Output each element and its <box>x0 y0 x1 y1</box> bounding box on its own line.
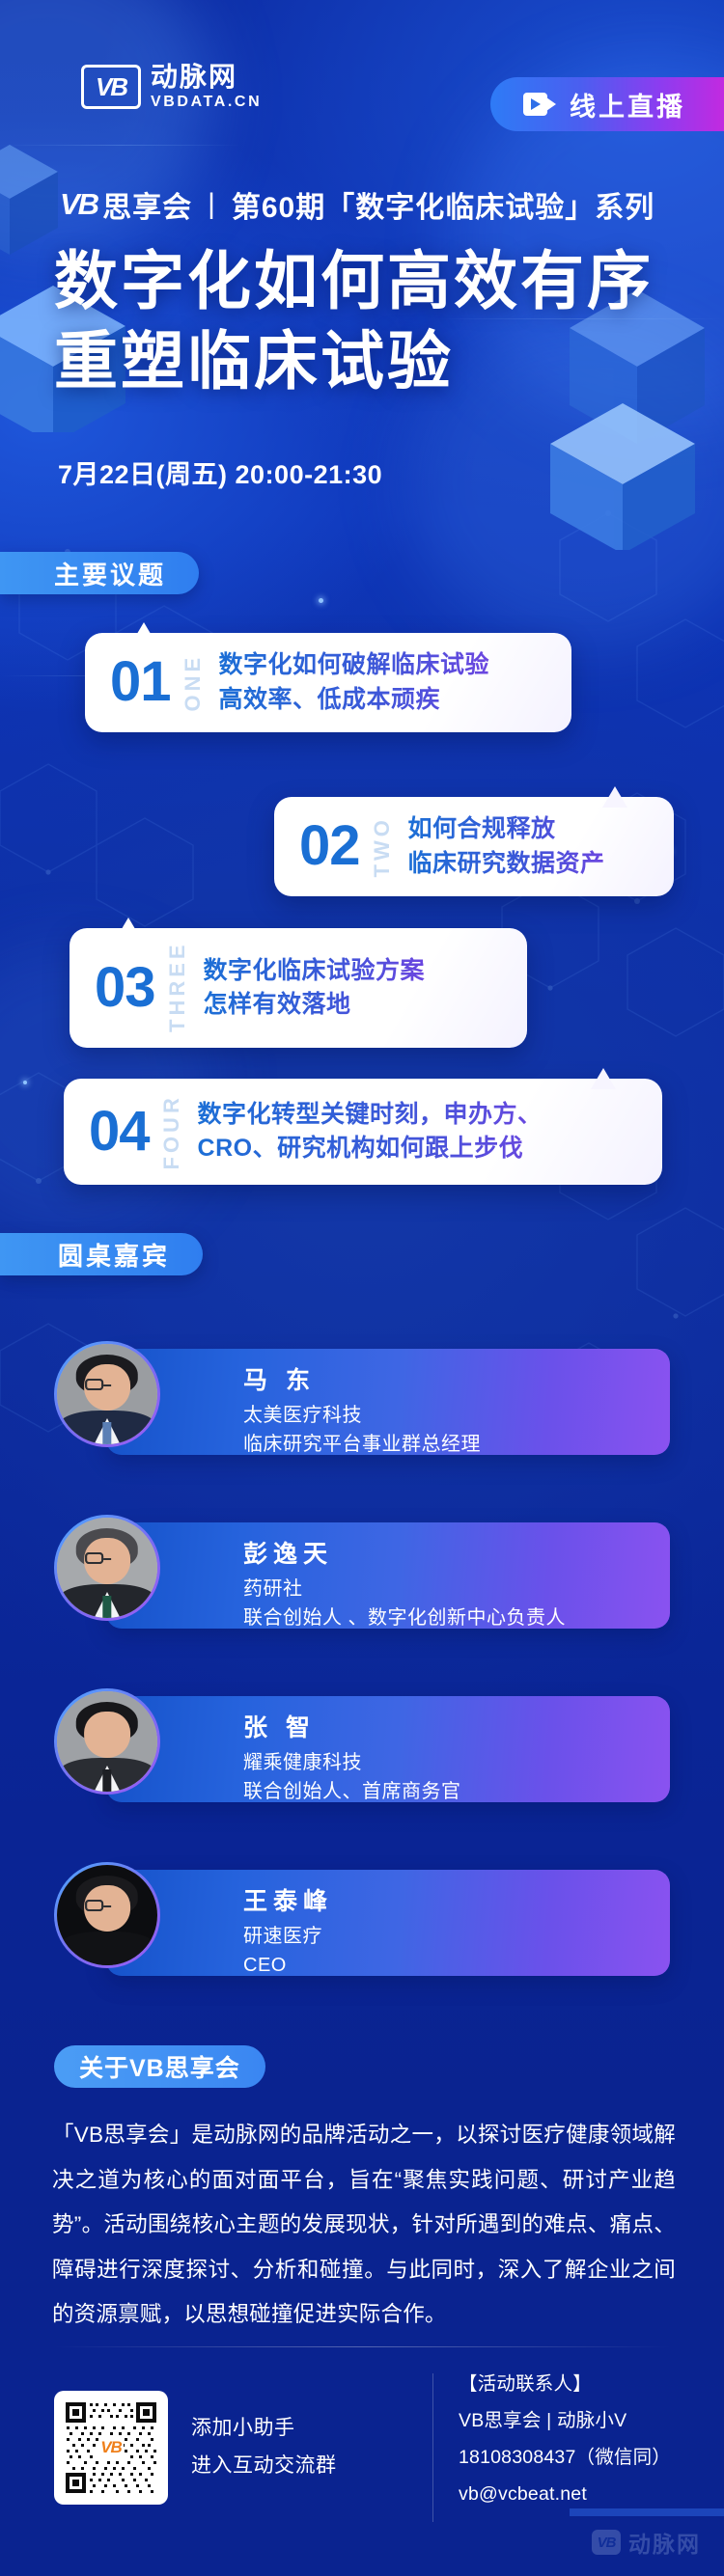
avatar-3 <box>57 1691 157 1792</box>
page-title: 数字化如何高效有序 重塑临床试验 <box>54 241 654 401</box>
guest-role-2: 联合创始人 、数字化创新中心负责人 <box>243 1603 566 1632</box>
avatar-ring-1 <box>54 1341 160 1447</box>
footer-divider <box>54 2346 672 2347</box>
guest-name-4: 王泰峰 <box>243 1882 333 1917</box>
topic-number-1: 01 <box>110 657 171 707</box>
video-camera-icon <box>523 93 556 116</box>
live-badge-label: 线上直播 <box>570 86 685 123</box>
guest-org-2: 药研社 <box>243 1575 566 1603</box>
contact-block: 【活动联系人】 VB思享会 | 动脉小V 18108308437（微信同） vb… <box>459 2366 671 2530</box>
qr-instructions: 添加小助手 进入互动交流群 <box>191 2410 337 2485</box>
topic-card-4: 04 FOUR 数字化转型关键时刻，申办方、 CRO、研究机构如何跟上步伐 <box>64 1079 662 1185</box>
guest-row-1: 马 东 太美医疗科技 临床研究平台事业群总经理 <box>54 1349 670 1455</box>
topic-number-4: 04 <box>89 1107 150 1157</box>
brand-name-cn: 动脉网 <box>151 64 262 91</box>
contact-email[interactable]: vb@vcbeat.net <box>459 2476 671 2512</box>
topic-text-3: 数字化临床试验方案 怎样有效落地 <box>204 954 426 1023</box>
kicker-issue: 第60期「数字化临床试验」系列 <box>232 183 654 226</box>
guest-name-2: 彭逸天 <box>243 1535 566 1570</box>
contact-title: 【活动联系人】 <box>459 2366 671 2402</box>
qr-code[interactable]: VB <box>54 2391 168 2505</box>
topic-text-2: 如何合规释放 临床研究数据资产 <box>408 812 605 881</box>
kicker-vb-mark: VB <box>60 187 97 222</box>
kicker-series: 思享会 <box>102 183 192 226</box>
topic-number-3: 03 <box>95 963 155 1013</box>
avatar-1 <box>57 1344 157 1444</box>
poster-root: VB 动脉网 VBDATA.CN 线上直播 VB 思享会 | 第60期「数字化临… <box>0 0 724 2576</box>
avatar-4 <box>57 1865 157 1965</box>
topic-card-3: 03 THREE 数字化临床试验方案 怎样有效落地 <box>70 928 527 1048</box>
guest-name-3: 张 智 <box>243 1709 461 1743</box>
guest-name-1: 马 东 <box>243 1361 481 1396</box>
avatar-ring-4 <box>54 1862 160 1968</box>
avatar-ring-2 <box>54 1515 160 1621</box>
guest-row-4: 王泰峰 研速医疗 CEO <box>54 1870 670 1976</box>
guest-row-2: 彭逸天 药研社 联合创始人 、数字化创新中心负责人 <box>54 1522 670 1629</box>
section-heading-topics: 主要议题 <box>0 552 199 594</box>
kicker-separator: | <box>208 188 216 221</box>
live-stream-badge[interactable]: 线上直播 <box>490 77 724 131</box>
watermark-label: 动脉网 <box>628 2526 701 2559</box>
topic-word-4: FOUR <box>161 1094 182 1169</box>
title-line-1: 数字化如何高效有序 <box>54 241 654 321</box>
footer-vertical-divider <box>432 2373 433 2522</box>
topic-text-1: 数字化如何破解临床试验 高效率、低成本顽疾 <box>219 648 490 717</box>
topic-word-1: ONE <box>182 654 204 712</box>
watermark: VB 动脉网 <box>592 2526 701 2559</box>
avatar-ring-3 <box>54 1688 160 1795</box>
topic-card-1: 01 ONE 数字化如何破解临床试验 高效率、低成本顽疾 <box>85 633 571 732</box>
topic-word-3: THREE <box>167 944 188 1032</box>
guest-role-3: 联合创始人、首席商务官 <box>243 1777 461 1806</box>
topic-text-4: 数字化转型关键时刻，申办方、 CRO、研究机构如何跟上步伐 <box>198 1098 543 1166</box>
topic-word-2: TWO <box>372 816 393 877</box>
topic-number-2: 02 <box>299 821 360 871</box>
guest-row-3: 张 智 耀乘健康科技 联合创始人、首席商务官 <box>54 1696 670 1802</box>
event-kicker: VB 思享会 | 第60期「数字化临床试验」系列 <box>60 183 654 226</box>
guest-role-1: 临床研究平台事业群总经理 <box>243 1430 481 1459</box>
footer: VB 添加小助手 进入互动交流群 【活动联系人】 VB思享会 | 动脉小V 18… <box>54 2366 672 2530</box>
contact-name: VB思享会 | 动脉小V <box>459 2402 671 2439</box>
brand-logo: VB 动脉网 VBDATA.CN <box>81 64 262 110</box>
section-heading-about: 关于VB思享会 <box>54 2045 265 2088</box>
topic-card-2: 02 TWO 如何合规释放 临床研究数据资产 <box>274 797 674 896</box>
vb-logo-mark: VB <box>81 65 141 109</box>
guest-role-4: CEO <box>243 1951 333 1980</box>
qr-note-line-2: 进入互动交流群 <box>191 2448 337 2485</box>
guest-org-1: 太美医疗科技 <box>243 1401 481 1430</box>
qr-center-logo: VB <box>98 2435 124 2460</box>
brand-name-en: VBDATA.CN <box>151 95 262 110</box>
qr-note-line-1: 添加小助手 <box>191 2410 337 2448</box>
section-heading-guests: 圆桌嘉宾 <box>0 1233 203 1275</box>
title-line-2: 重塑临床试验 <box>54 321 654 401</box>
watermark-vb-icon: VB <box>592 2530 621 2555</box>
event-datetime: 7月22日(周五) 20:00-21:30 <box>58 453 382 491</box>
about-paragraph: 「VB思享会」是动脉网的品牌活动之一，以探讨医疗健康领域解决之道为核心的面对面平… <box>52 2113 676 2338</box>
contact-phone: 18108308437（微信同） <box>459 2439 671 2476</box>
guest-org-4: 研速医疗 <box>243 1922 333 1951</box>
guest-org-3: 耀乘健康科技 <box>243 1748 461 1777</box>
avatar-2 <box>57 1518 157 1618</box>
watermark-bar <box>570 2508 724 2516</box>
